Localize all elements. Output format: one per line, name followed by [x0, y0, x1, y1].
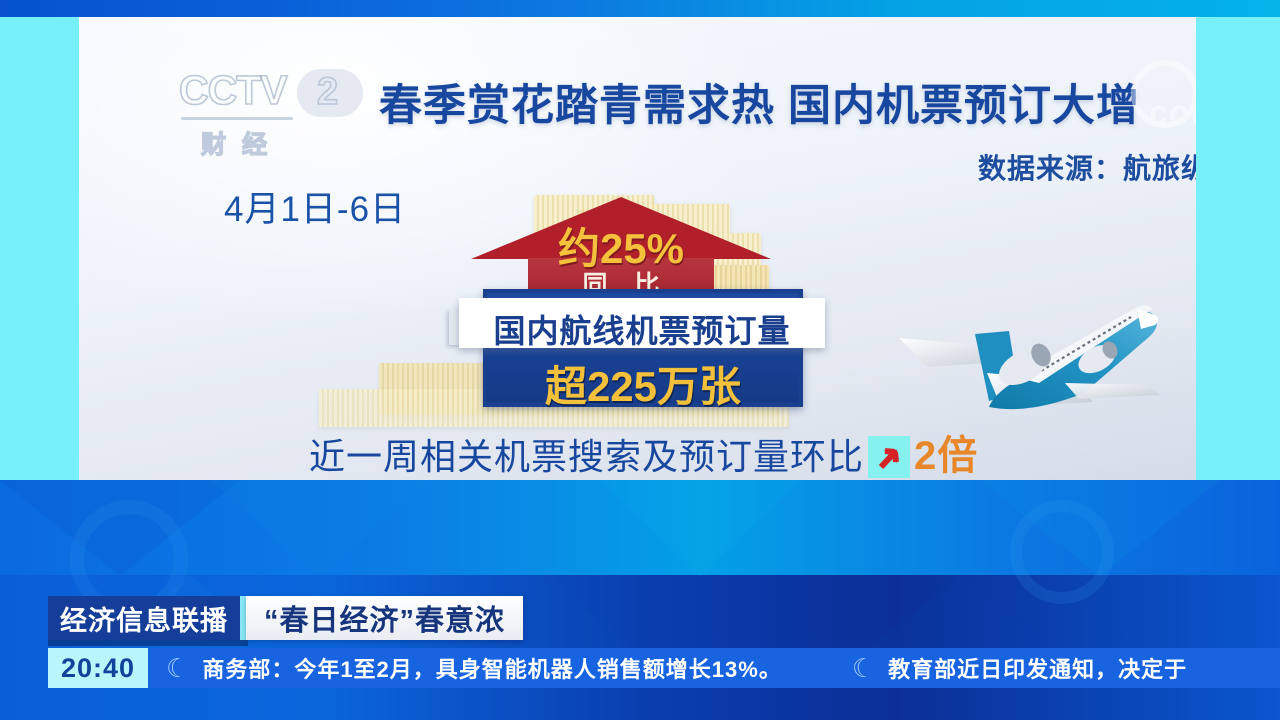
topic-title: “春日经济”春意浓 [246, 596, 523, 640]
bg-triangle-2 [210, 480, 430, 576]
program-name: 经济信息联播 [48, 596, 240, 640]
right-cyan-band [1196, 17, 1280, 480]
channel-logo-sub: 财经 [201, 125, 283, 161]
channel-logo: CCTV 2 财经 [179, 67, 359, 157]
ticker-item: ☾ 教育部近日印发通知，决定于 [834, 652, 1187, 684]
content-panel: 约25% 同 比 超225万张 国内航线机票预订量 近一周相关机票搜索及预订量环… [79, 17, 1196, 480]
news-ticker: 20:40 ☾ 商务部：今年1至2月，具身智能机器人销售额增长13%。 ☾ 教育… [48, 648, 1280, 688]
ticker-body: ☾ 商务部：今年1至2月，具身智能机器人销售额增长13%。 ☾ 教育部近日印发通… [148, 648, 1280, 688]
bg-triangle-3 [600, 480, 800, 576]
top-blue-strip [0, 0, 1280, 17]
ticker-item-text: 教育部近日印发通知，决定于 [888, 652, 1187, 684]
moon-icon: ☾ [852, 653, 876, 684]
clock-time: 20:40 [48, 648, 148, 688]
booking-total-value: 超225万张 [483, 353, 803, 414]
channel-logo-number: 2 [317, 71, 338, 114]
date-range-label: 4月1日-6日 [224, 181, 406, 232]
moon-icon: ☾ [166, 653, 190, 684]
data-source-label: 数据来源：航旅纵横 [379, 147, 1196, 187]
lower-third: 经济信息联播 “春日经济”春意浓 [48, 596, 523, 640]
airplane-icon [879, 265, 1169, 435]
caption-prefix: 近一周相关机票搜索及预订量环比 [309, 436, 864, 477]
caption-line: 近一周相关机票搜索及预订量环比2倍 [309, 423, 978, 480]
banner-label: 国内航线机票预订量 [459, 306, 825, 352]
up-right-arrow-icon [868, 436, 910, 478]
channel-logo-row: CCTV 2 [179, 67, 359, 119]
broadcast-screen: 约25% 同 比 超225万张 国内航线机票预订量 近一周相关机票搜索及预订量环… [0, 0, 1280, 720]
ticker-item-text: 商务部：今年1至2月，具身智能机器人销售额增长13%。 [202, 652, 782, 684]
page-title: 春季赏花踏青需求热 国内机票预订大增 [379, 83, 1196, 130]
logo-underline [181, 117, 293, 120]
lower-third-shadow [48, 640, 248, 646]
caption-multiplier: 2倍 [914, 434, 978, 478]
ticker-item: ☾ 商务部：今年1至2月，具身智能机器人销售额增长13%。 [148, 652, 782, 684]
left-cyan-band [0, 17, 79, 480]
channel-logo-text: CCTV [179, 67, 287, 114]
bg-circle-icon-2 [1010, 500, 1114, 604]
